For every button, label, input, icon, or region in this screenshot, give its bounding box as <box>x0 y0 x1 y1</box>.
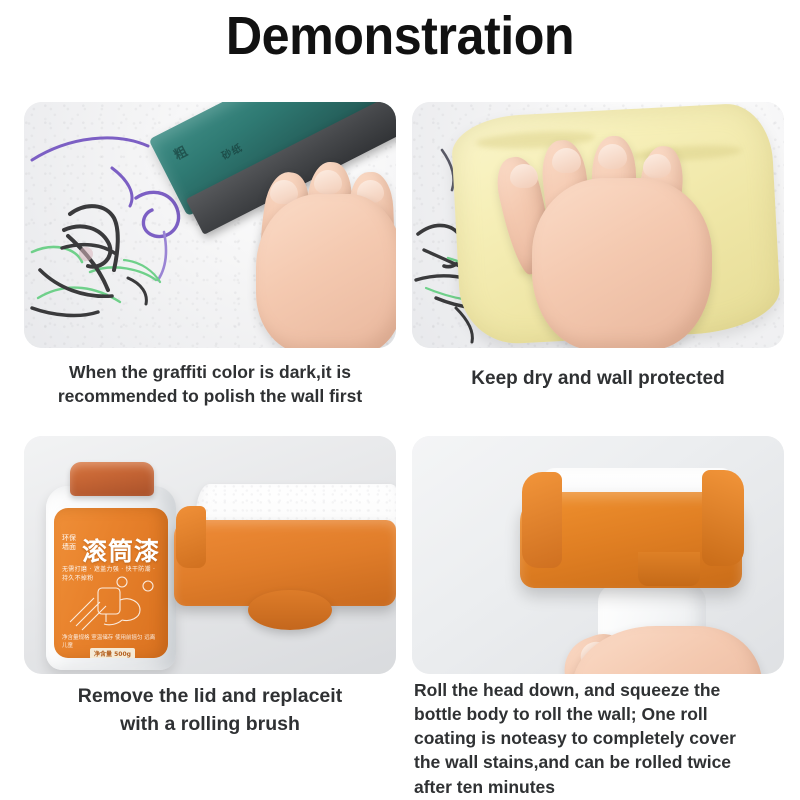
roller-stem <box>638 552 700 586</box>
bottle-cap <box>70 462 154 496</box>
step-image-polish: QETAOCC 2S 8 粗 砂纸 <box>24 102 396 348</box>
caption-line: after ten minutes <box>414 775 790 799</box>
cloth-fold <box>475 129 596 151</box>
page-title: Demonstration <box>28 8 772 65</box>
caption-line: bottle body to roll the wall; One roll <box>414 702 790 726</box>
roller-applicator <box>520 468 746 588</box>
fingernail <box>314 170 342 194</box>
caption-line: with a rolling brush <box>18 710 402 738</box>
bottle-label: 环保墙面 滚筒漆 无需打磨 · 遮盖力强 · 快干防潮 · 持久不掉粉 <box>54 508 168 658</box>
step-caption-polish: When the graffiti color is dark,it is re… <box>24 360 396 408</box>
roller-frame-left-arm <box>522 472 562 568</box>
step-image-wipe <box>412 102 784 348</box>
label-title: 滚筒漆 <box>82 532 160 568</box>
label-side-text: 环保墙面 <box>62 534 80 552</box>
roller-frame-lip <box>176 506 206 568</box>
fingernail <box>510 164 538 188</box>
caption-line: the wall stains,and can be rolled twice <box>414 750 790 774</box>
fingernail <box>598 144 627 169</box>
roller-neck-collar <box>248 590 332 630</box>
hand-palm <box>256 194 396 348</box>
step-caption-wipe: Keep dry and wall protected <box>412 366 784 392</box>
step-image-roll <box>412 436 784 674</box>
sponge-mark-two: 砂纸 <box>218 139 244 162</box>
paint-bottle: 环保墙面 滚筒漆 无需打磨 · 遮盖力强 · 快干防潮 · 持久不掉粉 <box>46 458 176 670</box>
caption-line: coating is noteasy to completely cover <box>414 726 790 750</box>
caption-line: When the graffiti color is dark,it is <box>24 360 396 384</box>
label-weight-badge: 净含量 500g <box>90 648 135 658</box>
fingernail <box>552 148 581 173</box>
roller-brush-head <box>174 484 396 644</box>
caption-line: recommended to polish the wall first <box>24 384 396 408</box>
roller-frame-right-arm <box>702 470 744 566</box>
caption-line: Roll the head down, and squeeze the <box>414 678 790 702</box>
caption-line: Remove the lid and replaceit <box>18 682 402 710</box>
step-caption-roll: Roll the head down, and squeeze the bott… <box>414 678 790 799</box>
hand-palm <box>532 178 712 348</box>
fingernail <box>643 154 671 178</box>
step-caption-replace-lid: Remove the lid and replaceit with a roll… <box>18 682 402 739</box>
step-image-replace-lid: 环保墙面 滚筒漆 无需打磨 · 遮盖力强 · 快干防潮 · 持久不掉粉 <box>24 436 396 674</box>
sponge-mark-one: 粗 <box>170 140 191 163</box>
demonstration-page: Demonstration <box>0 0 800 800</box>
caption-line: Keep dry and wall protected <box>412 366 784 392</box>
label-illustration <box>60 576 164 632</box>
